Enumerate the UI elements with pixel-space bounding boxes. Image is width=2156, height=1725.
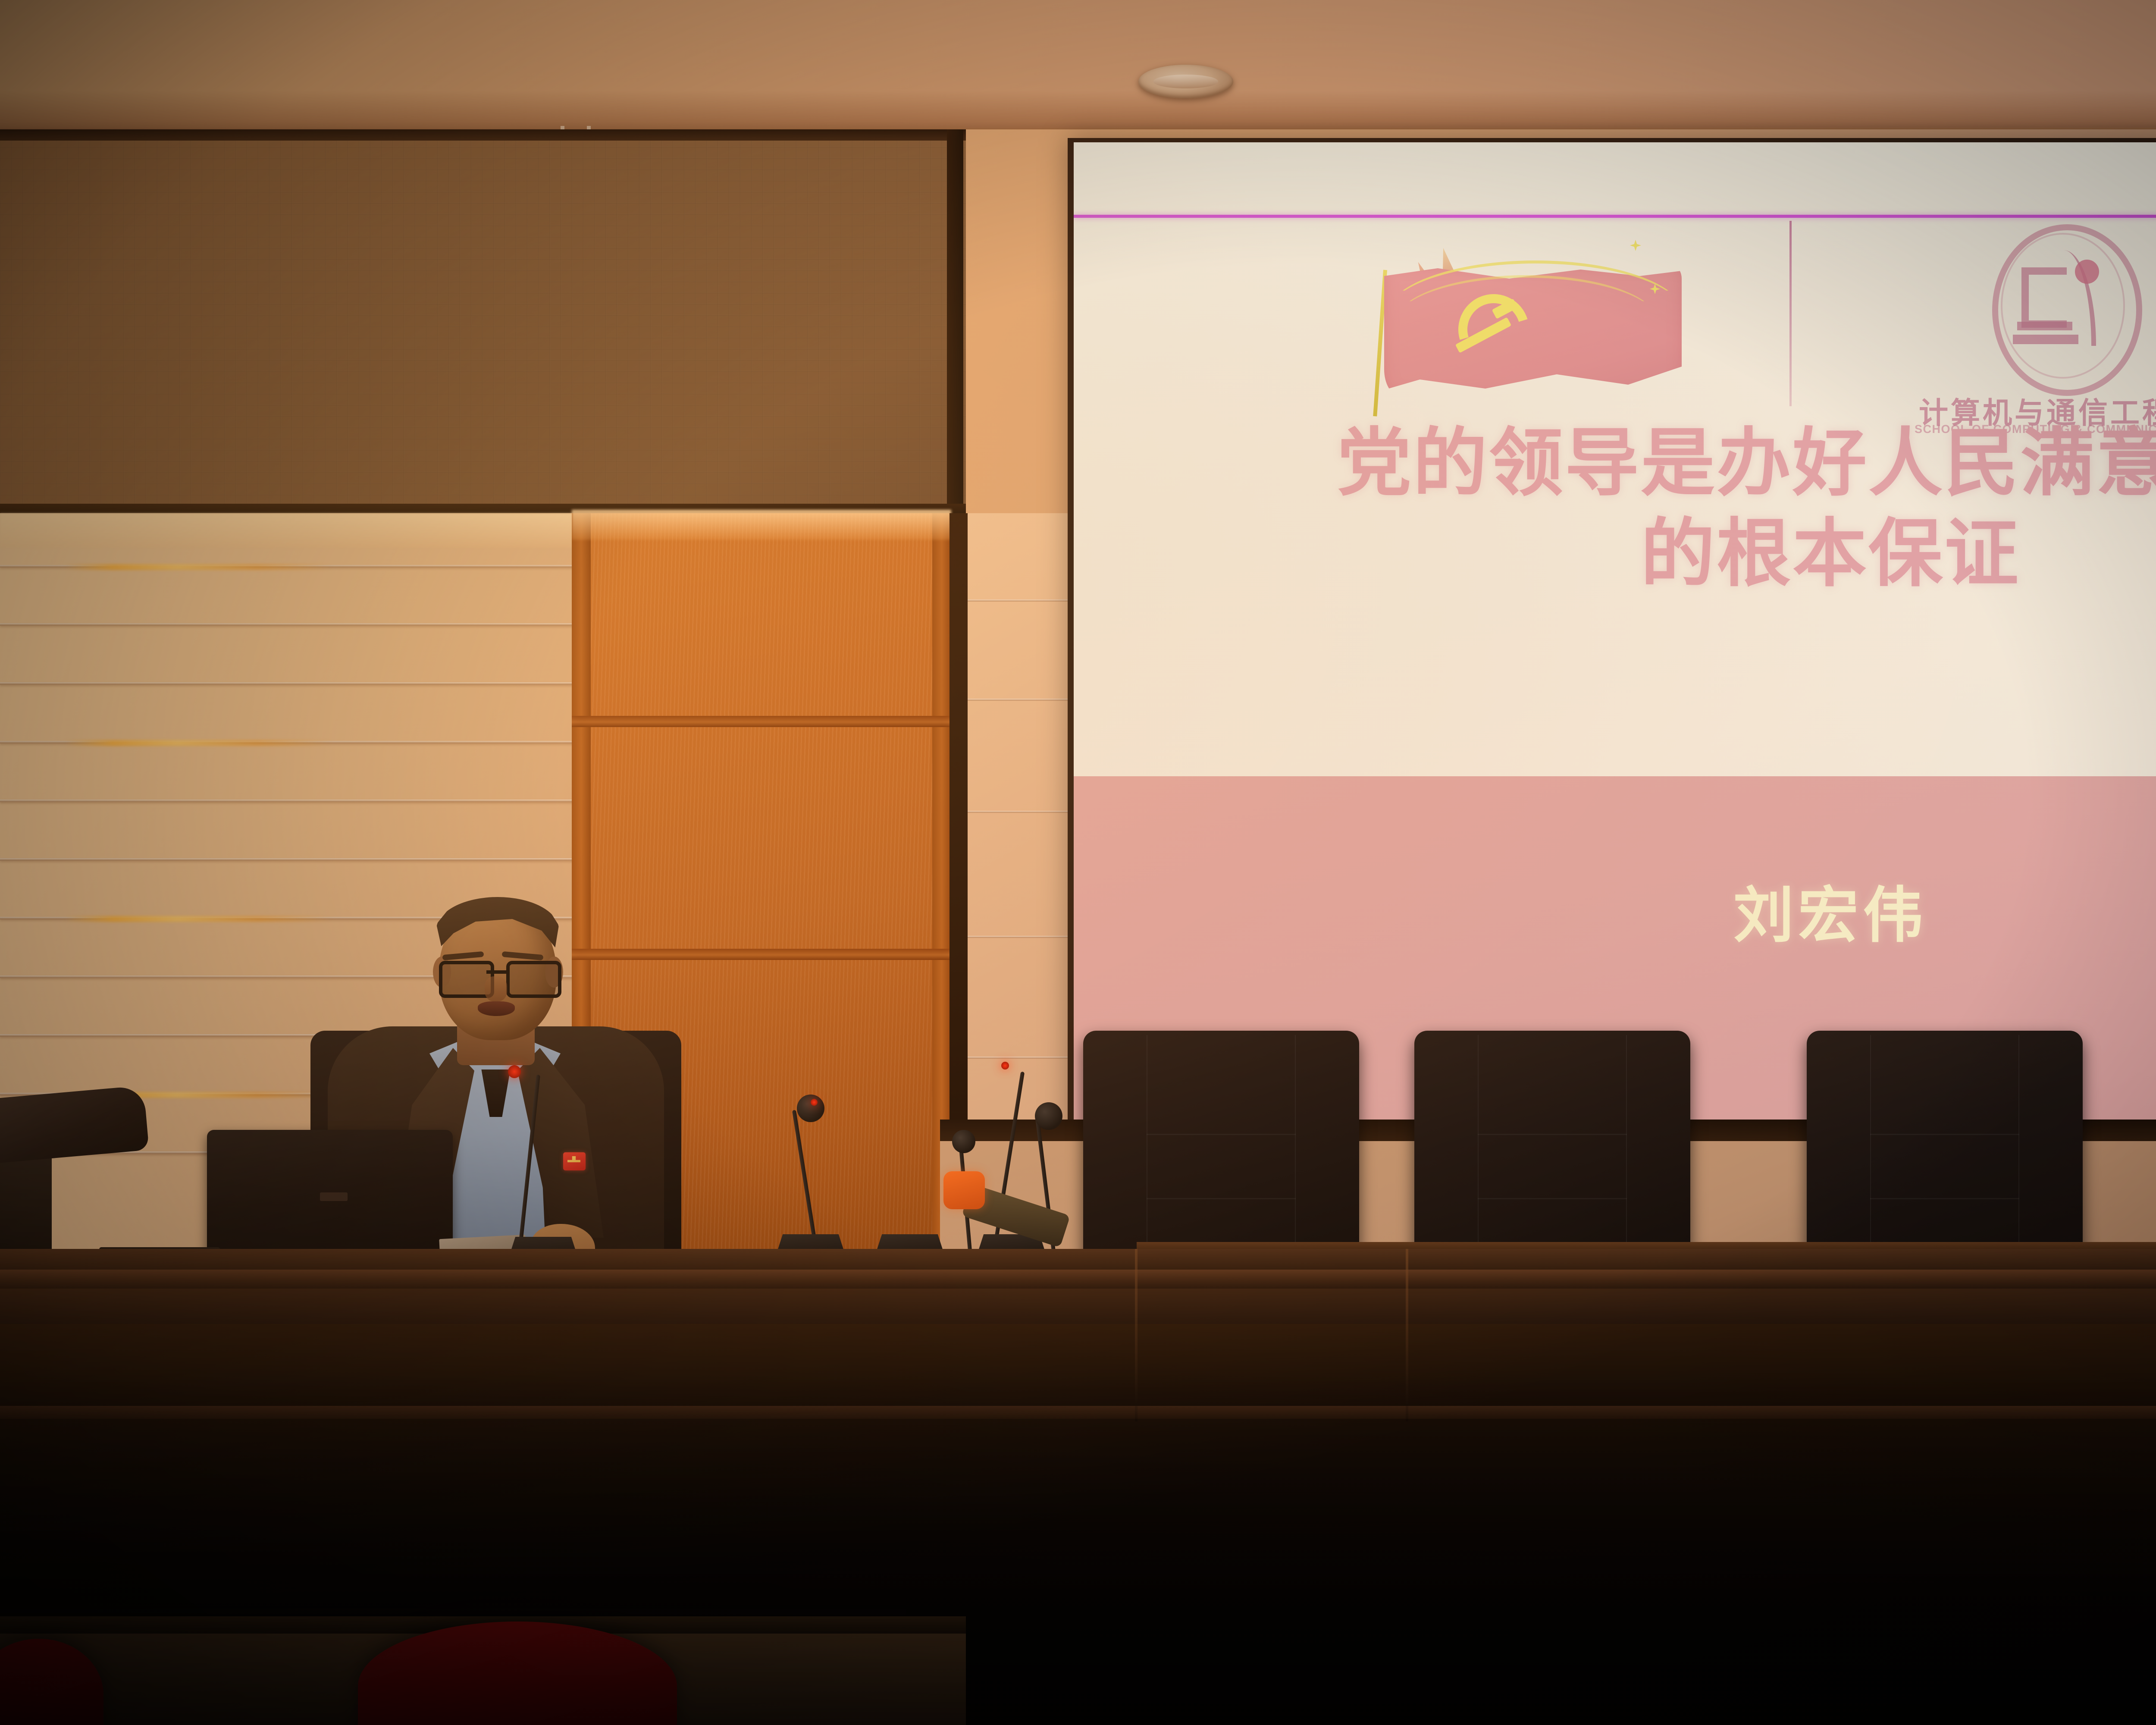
conference-hall-photo: 计算机与通信工程学院 SCHOOL OF COMPUTING & COMMUNI… [0,0,2156,1725]
foreground-dark-area [906,1596,2156,1725]
table-seam [1406,1249,1408,1421]
slide-title-line-2: 的根本保证 [1074,509,2156,599]
microphone-led-icon [508,1065,521,1078]
microphone-capsule-icon [952,1130,975,1153]
slide-vertical-divider [1789,221,1792,406]
table-seam [1135,1249,1138,1421]
party-emblem-pin-icon [563,1152,586,1170]
presenter-mouth [478,1001,515,1016]
hammer-and-sickle-icon [1448,289,1530,362]
executive-chair-3[interactable] [1807,1031,2083,1276]
smoke-detector-icon [1138,65,1233,98]
microphone-capsule-icon [797,1095,824,1122]
handheld-microphone-windscreen-icon [943,1171,985,1209]
conference-table-base [0,1419,2156,1609]
table-molding-lower [0,1406,2156,1421]
plastic-wrap-sheen [0,513,573,548]
fabric-panel-top-trim [0,129,966,141]
table-molding-mid [0,1289,2156,1326]
fabric-panel-right-trim [947,129,963,517]
school-logo: 计算机与通信工程学院 SCHOOL OF COMPUTING & COMMUNI… [1915,220,2156,427]
table-molding-upper [0,1270,2156,1289]
slide-title: 党的领导是办好人民满意教育 的根本保证 [1074,418,2156,599]
microphone-led-icon [811,1099,818,1106]
presenter-nose [485,976,507,1001]
fabric-acoustic-panel [0,129,966,517]
executive-chair-1[interactable] [1083,1031,1359,1276]
logo-dot-icon [2075,260,2099,284]
wood-panel-wrap-sheen [572,510,951,540]
executive-chair-2[interactable] [1414,1031,1690,1276]
slide-title-line-1: 党的领导是办好人民满意教育 [1337,422,2156,505]
slide-accent-rule [1074,215,2156,218]
conference-table-top [0,1249,2156,1271]
projection-screen: 计算机与通信工程学院 SCHOOL OF COMPUTING & COMMUNI… [1074,142,2156,1134]
lectern-stem [0,1147,52,1259]
conference-table-front [0,1324,2156,1410]
sparkle-icon [1630,240,1641,251]
laptop-logo-icon [320,1192,348,1201]
party-flag-graphic [1354,224,1742,414]
microphone-capsule-icon [1035,1102,1062,1130]
microphone-led-icon [1001,1062,1009,1069]
slide-presenter-name: 刘宏伟 [1074,867,2156,954]
